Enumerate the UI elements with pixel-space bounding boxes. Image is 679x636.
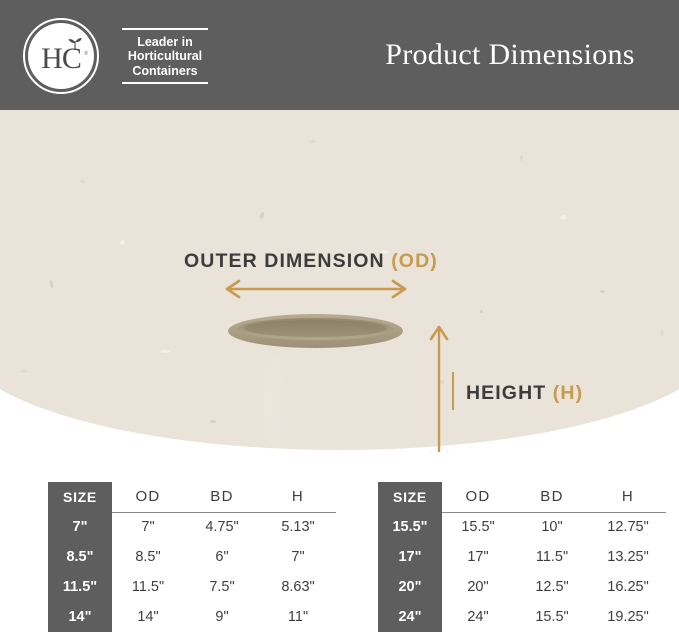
table-header-row: SIZE OD BD H — [378, 482, 666, 512]
cell-h: 13.25" — [590, 542, 666, 572]
cell-size: 15.5" — [378, 512, 442, 542]
cell-size: 24" — [378, 602, 442, 632]
header-bar: HC ® Leader in Horticultural Containers … — [0, 0, 679, 110]
cell-bd: 11.5" — [514, 542, 590, 572]
height-text: HEIGHT — [466, 382, 553, 404]
pot-opening — [244, 320, 387, 337]
column-header-od: OD — [112, 482, 184, 512]
cell-bd: 4.75" — [184, 512, 260, 542]
cell-od: 11.5" — [112, 572, 184, 602]
outer-dimension-label: OUTER DIMENSION (OD) — [184, 250, 438, 273]
tagline-line-1: Leader in — [122, 35, 208, 50]
hc-logo-icon: HC ® — [22, 17, 100, 95]
cell-od: 14" — [112, 602, 184, 632]
column-header-h: H — [260, 482, 336, 512]
table-row: 11.5" 11.5" 7.5" 8.63" — [48, 572, 336, 602]
cell-bd: 12.5" — [514, 572, 590, 602]
cell-size: 20" — [378, 572, 442, 602]
cell-bd: 9" — [184, 602, 260, 632]
leaf-sprout-icon — [66, 37, 84, 51]
pot-highlight — [262, 354, 292, 450]
cell-size: 11.5" — [48, 572, 112, 602]
table-row: 15.5" 15.5" 10" 12.75" — [378, 512, 666, 542]
cell-od: 15.5" — [442, 512, 514, 542]
diagram-panel: OUTER DIMENSION (OD) HEIGHT (H) — [0, 110, 679, 452]
table-row: 20" 20" 12.5" 16.25" — [378, 572, 666, 602]
cell-h: 5.13" — [260, 512, 336, 542]
tagline-line-3: Containers — [122, 64, 208, 79]
cell-h: 11" — [260, 602, 336, 632]
height-arrow-icon — [428, 320, 450, 452]
brand-logo: HC ® Leader in Horticultural Containers — [22, 16, 192, 96]
cell-od: 8.5" — [112, 542, 184, 572]
cell-bd: 10" — [514, 512, 590, 542]
cell-size: 17" — [378, 542, 442, 572]
table-row: 7" 7" 4.75" 5.13" — [48, 512, 336, 542]
table-row: 24" 24" 15.5" 19.25" — [378, 602, 666, 632]
height-label-divider — [452, 372, 454, 410]
cell-h: 19.25" — [590, 602, 666, 632]
cell-size: 8.5" — [48, 542, 112, 572]
table-row: 17" 17" 11.5" 13.25" — [378, 542, 666, 572]
tagline-line-2: Horticultural — [122, 49, 208, 64]
cell-bd: 6" — [184, 542, 260, 572]
cell-h: 8.63" — [260, 572, 336, 602]
column-header-bd: BD — [184, 482, 260, 512]
table-row: 8.5" 8.5" 6" 7" — [48, 542, 336, 572]
height-code: (H) — [553, 382, 583, 404]
height-label: HEIGHT (H) — [466, 382, 583, 405]
column-header-size: SIZE — [48, 482, 112, 512]
column-header-od: OD — [442, 482, 514, 512]
cell-size: 14" — [48, 602, 112, 632]
outer-dimension-code: (OD) — [391, 250, 438, 272]
cell-bd: 15.5" — [514, 602, 590, 632]
outer-dimension-arrow-icon — [220, 278, 412, 300]
cell-h: 7" — [260, 542, 336, 572]
cell-od: 24" — [442, 602, 514, 632]
cell-od: 17" — [442, 542, 514, 572]
product-dimensions-infographic: HC ® Leader in Horticultural Containers … — [0, 0, 679, 636]
brand-tagline: Leader in Horticultural Containers — [110, 28, 208, 84]
cell-od: 20" — [442, 572, 514, 602]
column-header-h: H — [590, 482, 666, 512]
cell-od: 7" — [112, 512, 184, 542]
logo-monogram: HC — [22, 17, 100, 95]
column-header-bd: BD — [514, 482, 590, 512]
cell-bd: 7.5" — [184, 572, 260, 602]
trademark-symbol: ® — [84, 51, 88, 57]
outer-dimension-text: OUTER DIMENSION — [184, 250, 391, 272]
cell-h: 16.25" — [590, 572, 666, 602]
page-title: Product Dimensions — [360, 0, 660, 110]
size-table-left: SIZE OD BD H 7" 7" 4.75" 5.13" 8.5" 8.5"… — [48, 482, 336, 632]
cell-h: 12.75" — [590, 512, 666, 542]
tagline-rule-bottom — [122, 82, 208, 84]
size-table-right: SIZE OD BD H 15.5" 15.5" 10" 12.75" 17" … — [378, 482, 666, 632]
table-row: 14" 14" 9" 11" — [48, 602, 336, 632]
table-header-row: SIZE OD BD H — [48, 482, 336, 512]
column-header-size: SIZE — [378, 482, 442, 512]
planter-pot-illustration — [228, 306, 403, 452]
cell-size: 7" — [48, 512, 112, 542]
